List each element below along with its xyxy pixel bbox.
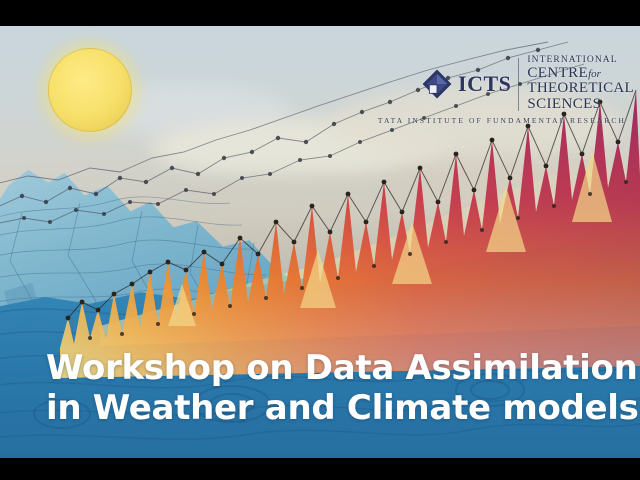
cloud-wash: [210, 176, 450, 218]
icts-logo: ICTS INTERNATIONAL CENTREfor THEORETICAL…: [420, 56, 634, 113]
logo-word-centre: CENTRE: [527, 65, 588, 81]
letterbox-bar-bottom: [0, 458, 640, 480]
logo-word-for: for: [588, 68, 601, 80]
cloud-wash: [150, 118, 450, 178]
workshop-title-line-2: in Weather and Climate models: [46, 388, 639, 428]
icts-fullname: INTERNATIONAL CENTREfor THEORETICAL SCIE…: [527, 56, 634, 113]
climate-watercolor-illustration: ICTS INTERNATIONAL CENTREfor THEORETICAL…: [0, 26, 640, 458]
logo-line-theoretical: THEORETICAL: [527, 81, 634, 97]
logo-divider: [518, 58, 519, 111]
workshop-title-line-1: Workshop on Data Assimilation: [46, 348, 639, 388]
letterbox-bar-top: [0, 0, 640, 26]
logo-line-sciences: SCIENCES: [527, 97, 634, 113]
icts-logo-row: ICTS INTERNATIONAL CENTREfor THEORETICAL…: [420, 56, 634, 113]
video-title-card: ICTS INTERNATIONAL CENTREfor THEORETICAL…: [0, 0, 640, 480]
icts-tagline: TATA INSTITUTE OF FUNDAMENTAL RESEARCH: [378, 116, 626, 125]
icts-wordmark: ICTS: [458, 73, 511, 95]
diamond-cube-icon: [420, 67, 454, 101]
workshop-title: Workshop on Data Assimilation in Weather…: [46, 348, 639, 428]
cloud-wash: [380, 156, 630, 212]
sun-icon: [48, 48, 132, 132]
